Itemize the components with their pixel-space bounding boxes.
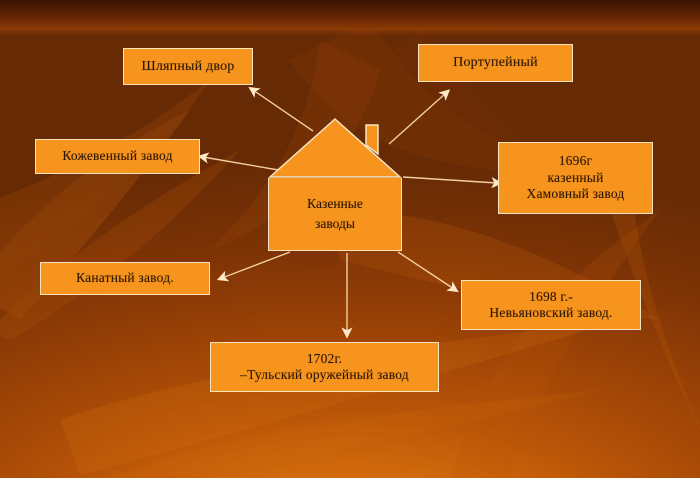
node-hat-yard-line-1: Шляпный двор — [124, 58, 252, 75]
central-house-line-1: Казенные — [307, 194, 363, 214]
house-roof-icon — [268, 117, 402, 179]
central-house[interactable]: Казенные заводы — [268, 117, 402, 251]
node-khamovny-line-1: 1696г — [499, 153, 652, 169]
node-khamovny-1696[interactable]: 1696г казенный Хамовный завод — [498, 142, 653, 214]
background-top-band-fade — [0, 28, 700, 36]
node-khamovny-line-2: казенный — [499, 170, 652, 186]
node-nevyanovsky-line-1: 1698 г.- — [462, 289, 640, 305]
node-portupeyny-line-1: Портупейный — [419, 54, 572, 71]
node-tula-arms-line-1: 1702г. — [211, 351, 438, 367]
node-tannery[interactable]: Кожевенный завод — [35, 139, 200, 174]
node-tannery-line-1: Кожевенный завод — [36, 148, 199, 164]
node-hat-yard[interactable]: Шляпный двор — [123, 48, 253, 85]
node-nevyanovsky-1698[interactable]: 1698 г.- Невьяновский завод. — [461, 280, 641, 330]
node-tula-arms-1702[interactable]: 1702г. –Тульский оружейный завод — [210, 342, 439, 392]
node-rope-factory-line-1: Канатный завод. — [41, 270, 209, 286]
central-house-line-2: заводы — [315, 214, 355, 234]
slide-canvas: Казенные заводы Шляпный двор Портупейный… — [0, 0, 700, 478]
node-tula-arms-line-2: –Тульский оружейный завод — [211, 367, 438, 383]
background-top-band — [0, 0, 700, 30]
node-rope-factory[interactable]: Канатный завод. — [40, 262, 210, 295]
node-nevyanovsky-line-2: Невьяновский завод. — [462, 305, 640, 321]
central-house-body: Казенные заводы — [268, 178, 402, 251]
node-khamovny-line-3: Хамовный завод — [499, 186, 652, 202]
node-portupeyny[interactable]: Портупейный — [418, 44, 573, 82]
